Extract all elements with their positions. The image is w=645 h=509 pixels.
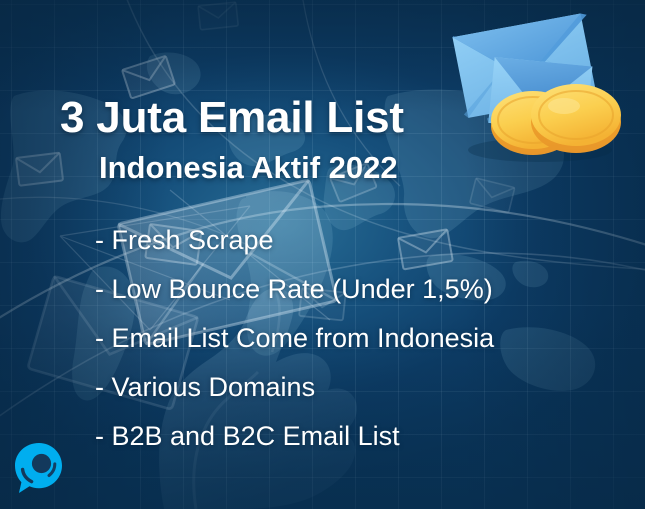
promo-slide: 3 Juta Email List Indonesia Aktif 2022 -… — [0, 0, 645, 509]
list-item: - Email List Come from Indonesia — [95, 314, 635, 363]
page-title: 3 Juta Email List — [60, 96, 404, 140]
list-item: - Various Domains — [95, 363, 635, 412]
list-item: - Low Bounce Rate (Under 1,5%) — [95, 265, 635, 314]
envelope-stack-icon — [436, 8, 641, 168]
list-item: - Fresh Scrape — [95, 216, 635, 265]
p-speech-bubble-logo — [13, 441, 65, 495]
list-item: - B2B and B2C Email List — [95, 412, 635, 461]
page-subtitle: Indonesia Aktif 2022 — [99, 152, 398, 183]
feature-list: - Fresh Scrape - Low Bounce Rate (Under … — [95, 216, 635, 461]
